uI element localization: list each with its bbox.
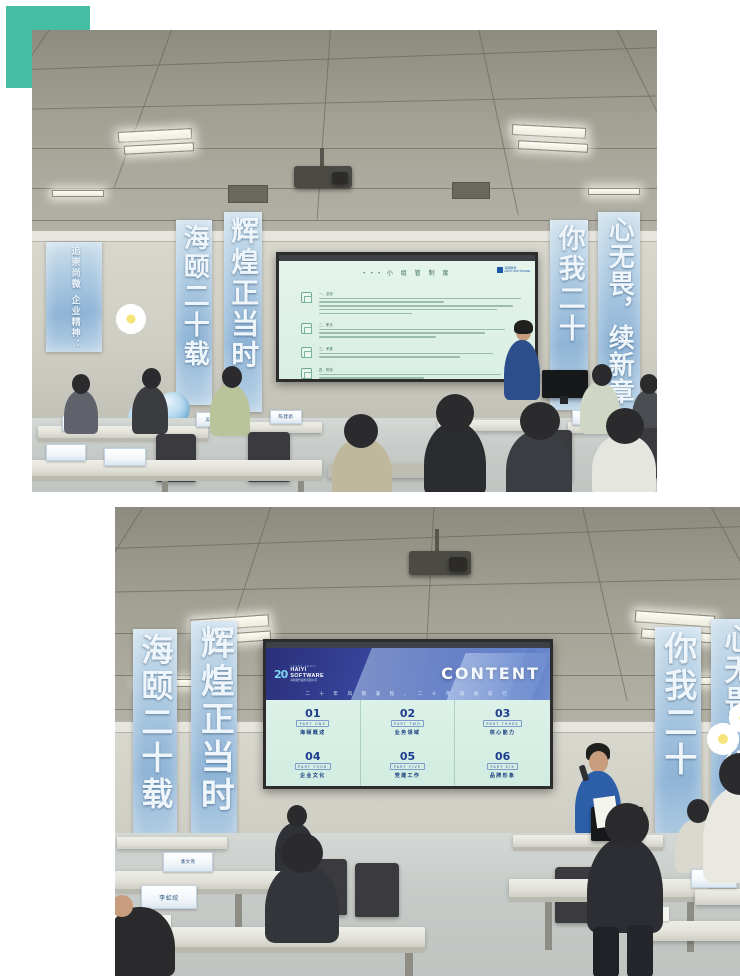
wall-panel-left-text: 追崇尚微 企业精神： [46,242,102,352]
standing-person-legs [627,925,653,976]
agenda-item: 02 PART TWO 业务领域 [361,700,456,743]
photo-training-room-content-slide: 海颐二十载 辉煌正当时 你我二十 心无畏，续新章 匠心智造 [115,507,740,976]
slide-section-icon [301,347,312,358]
slide-heading: CONTENT [441,664,540,683]
slide-section-icon [301,292,312,303]
agenda-part: PART FIVE [390,763,425,770]
desk [117,837,227,849]
banner-glorious-moment: 辉煌正当时 [191,621,237,856]
slide-section: 三、考核 [319,346,521,360]
agenda-label: 企业文化 [300,772,326,779]
banner-hai-yi-twenty-years: 海颐二十载 [176,220,212,405]
agenda-label: 业务领域 [395,729,421,736]
desk-leg [298,481,304,492]
attendee-head [72,374,90,394]
slide-section: 二、职责 [319,322,521,340]
slide-section-icon [301,368,312,379]
daisy-flower-decor [711,727,735,751]
slide-section-icon [301,323,312,334]
ceiling-vent [228,185,268,203]
desk-near [32,460,322,476]
logo-line-2: HAIYI SOFTWARE [504,270,530,273]
name-card: 陈建新 [270,410,302,424]
slide-subline: 二 十 年 风 雨 兼 程 ， 二 十 年 砥 砺 前 行 [266,691,550,697]
chair [355,863,399,917]
projector-lens [332,172,348,184]
agenda-label: 党建工作 [395,772,421,779]
desk-leg [405,953,413,976]
banner-hai-yi-twenty-years: 海颐二十载 [133,629,177,849]
presenter-body [504,340,540,400]
agenda-number: 01 [305,708,320,719]
agenda-number: 04 [305,751,320,762]
slide-section: 一、总则 [319,291,521,316]
desk-edge [32,476,322,481]
monitor-stand [560,396,568,404]
desk-near [695,889,740,905]
haiyi-logo-mark-icon [497,267,503,273]
slide-section: 四、附则 [319,367,521,381]
banner-text: 你我二十 [555,224,583,344]
agenda-number: 02 [400,708,415,719]
slide-header-band: 20 YEARS ANNIV HAIYI SOFTWARE 海颐软件股份有限公司… [266,648,550,700]
attendee-near-head [520,402,560,440]
attendee-near-head [344,414,378,448]
ceiling-light [588,188,640,195]
projector-screen: • • • 小 组 管 制 度 海颐软件 HAIYI SOFTWARE 一、总则 [276,252,538,382]
slide-corp-logo: 海颐软件 HAIYI SOFTWARE [497,267,530,274]
standing-person-legs [593,927,619,976]
agenda-item: 05 PART FIVE 党建工作 [361,743,456,786]
banner-text: 你我二十 [661,631,695,779]
attendee [64,390,98,434]
name-card: 潘文燕 [163,852,213,872]
attendee-near-head [436,394,474,432]
agenda-number: 03 [495,708,510,719]
name-card [104,448,146,466]
attendee-near-head [281,833,323,873]
slide-section-heading: 三、考核 [319,346,521,351]
attendee-near-head [605,803,649,847]
desk-leg [162,481,168,492]
attendee [132,386,168,434]
slide-content: 20 YEARS ANNIV HAIYI SOFTWARE 海颐软件股份有限公司… [266,648,550,786]
logo-line-3: 海颐软件股份有限公司 [290,680,324,683]
agenda-number: 06 [495,751,510,762]
desk-leg [545,902,552,950]
agenda-part: PART TWO [391,720,425,727]
ceiling-light [52,190,104,197]
presenter-head [589,751,608,773]
anniversary-number: 20 [274,669,287,680]
agenda-part: PART THREE [483,720,522,727]
daisy-flower-decor [120,308,142,330]
projector-screen: 20 YEARS ANNIV HAIYI SOFTWARE 海颐软件股份有限公司… [263,639,553,789]
slide-text: • • • 小 组 管 制 度 海颐软件 HAIYI SOFTWARE 一、总则 [279,261,535,379]
agenda-part: PART ONE [296,720,329,727]
name-card [46,444,86,461]
slide-title-dots: • • • [363,270,382,277]
attendee-near [265,863,339,943]
banner-text: 辉煌正当时 [197,625,232,815]
attendee-head [222,366,242,388]
ceiling [32,30,657,235]
agenda-item: 06 PART SIX 品牌形象 [455,743,550,786]
banner-text: 海颐二十载 [181,224,208,369]
ceiling-vent [452,182,490,199]
attendee-near-head [606,408,644,444]
slide-section-heading: 二、职责 [319,322,521,327]
agenda-part: PART FOUR [295,763,331,770]
banner-text: 辉煌正当时 [229,216,258,371]
attendee-head [592,364,612,386]
slide-title-text: 小 组 管 制 度 [387,270,452,277]
slide-section-heading: 一、总则 [319,291,521,296]
presenter-hair [514,320,533,334]
agenda-part: PART SIX [487,763,518,770]
agenda-label: 品牌形象 [490,772,516,779]
slide-agenda-grid: 01 PART ONE 海颐概述 02 PART TWO 业务领域 03 PAR… [266,700,550,786]
attendee-head [287,805,307,827]
page-root: 追崇尚微 企业精神： 海颐二十载 辉煌正当时 你我二十 心无畏，续新章 [0,0,740,976]
attendee-head [640,374,657,394]
agenda-label: 核心能力 [490,729,516,736]
daisy-flower-decor [733,707,740,729]
agenda-item: 01 PART ONE 海颐概述 [266,700,361,743]
attendee [210,384,250,436]
attendee-near [587,837,663,933]
projector-lens [449,557,467,571]
wall-panel-text: 追崇尚微 企业精神： [69,246,78,350]
agenda-item: 03 PART THREE 核心能力 [455,700,550,743]
name-card: 李虹绞 [141,885,197,909]
slide-section-heading: 四、附则 [319,367,521,372]
room-scene: 海颐二十载 辉煌正当时 你我二十 心无畏，续新章 匠心智造 [115,507,740,976]
photo-training-room-text-slide: 追崇尚微 企业精神： 海颐二十载 辉煌正当时 你我二十 心无畏，续新章 [32,30,657,492]
monitor [542,370,588,398]
agenda-label: 海颐概述 [300,729,326,736]
agenda-number: 05 [400,751,415,762]
room-scene: 追崇尚微 企业精神： 海颐二十载 辉煌正当时 你我二十 心无畏，续新章 [32,30,657,492]
agenda-item: 04 PART FOUR 企业文化 [266,743,361,786]
banner-text: 海颐二十载 [139,633,172,813]
attendee-head [142,368,161,389]
slide-logo: 20 YEARS ANNIV HAIYI SOFTWARE 海颐软件股份有限公司 [274,666,324,682]
